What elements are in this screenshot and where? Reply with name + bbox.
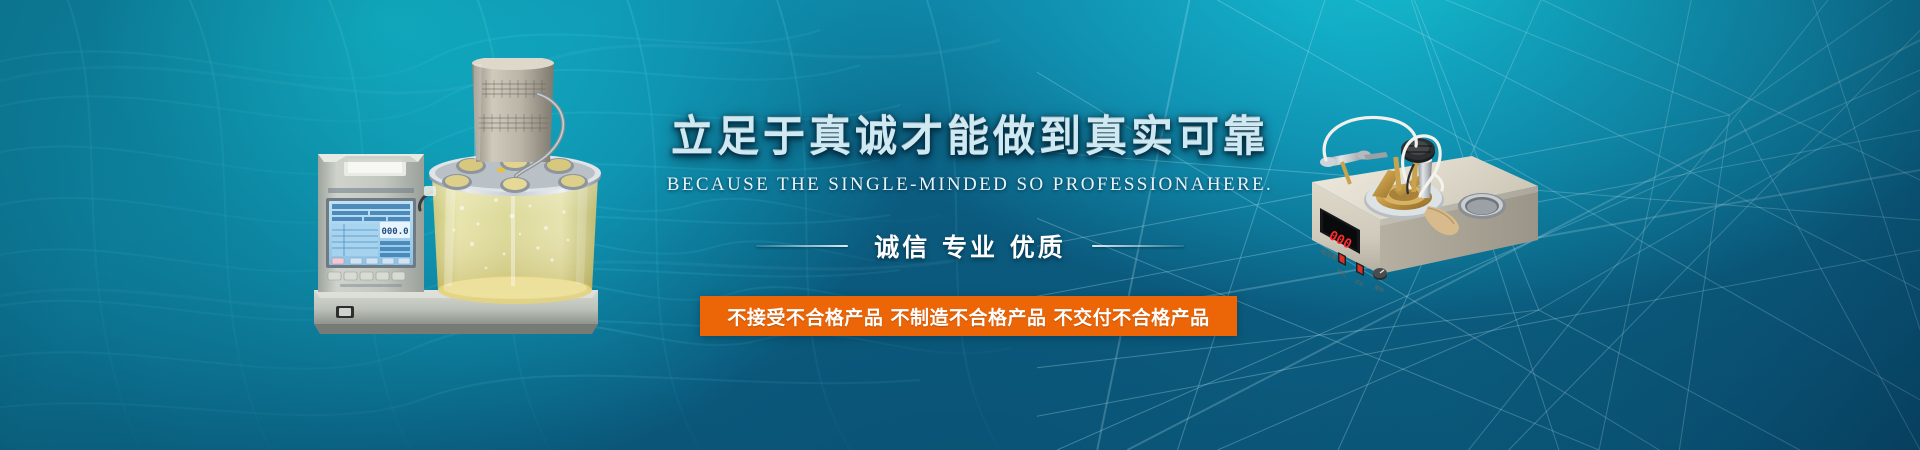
tagline-rule-right bbox=[1092, 245, 1184, 247]
tagline-rule-left bbox=[756, 245, 848, 247]
switch-label-ignite: 点火 bbox=[1353, 278, 1365, 288]
banner-tagline-row: 诚信 专业 优质 bbox=[565, 228, 1375, 264]
banner-tagline: 诚信 专业 优质 bbox=[874, 228, 1065, 264]
viscometer-display-value: 000.0 bbox=[381, 227, 408, 237]
banner-subline: BECAUSE THE SINGLE-MINDED SO PROFESSIONA… bbox=[565, 174, 1375, 196]
switch-label-power: 开机 bbox=[1335, 268, 1347, 279]
promo-banner: 000.0 bbox=[0, 0, 1920, 450]
slogan-strip: 不接受不合格产品 不制造不合格产品 不交付不合格产品 bbox=[700, 296, 1237, 336]
quality-slogan: 不接受不合格产品 不制造不合格产品 不交付不合格产品 bbox=[727, 303, 1209, 330]
switch-label-stir: 搅拌 bbox=[1373, 284, 1385, 295]
kinematic-viscosity-tester-image: 000.0 bbox=[306, 58, 606, 348]
banner-text-block: 立足于真诚才能做到真实可靠 BECAUSE THE SINGLE-MINDED … bbox=[565, 112, 1375, 264]
banner-headline: 立足于真诚才能做到真实可靠 bbox=[565, 112, 1375, 160]
